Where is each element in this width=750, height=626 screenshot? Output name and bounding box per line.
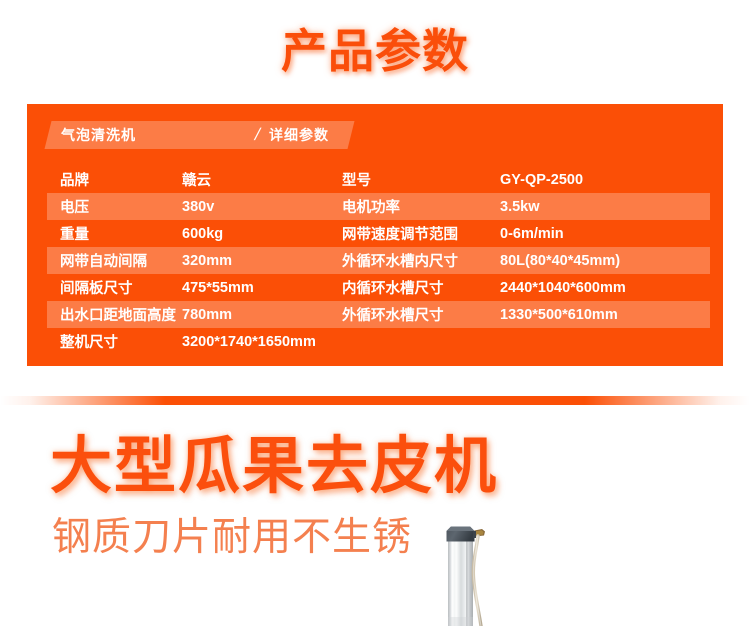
spec-label: 出水口距地面高度 <box>60 304 182 325</box>
section-divider <box>0 396 750 405</box>
spec-value: 780mm <box>182 307 342 323</box>
spec-header-product-name: 气泡清洗机 <box>61 125 136 145</box>
spec-label: 间隔板尺寸 <box>60 277 182 298</box>
spec-value: 赣云 <box>182 169 342 190</box>
spec-value: 475*55mm <box>182 280 342 296</box>
peeling-machine-photo <box>418 517 538 626</box>
promo-title: 大型瓜果去皮机 <box>50 436 498 498</box>
spec-label: 网带自动间隔 <box>60 250 182 271</box>
spec-value: 3200*1740*1650mm <box>182 334 316 350</box>
spec-label: 网带速度调节范围 <box>342 223 500 244</box>
table-row: 品牌 赣云 型号 GY-QP-2500 <box>27 166 723 193</box>
spec-value: 3.5kw <box>500 199 540 215</box>
table-row: 电压 380v 电机功率 3.5kw <box>27 193 723 220</box>
spec-header-separator-icon: / <box>253 125 264 145</box>
spec-label: 整机尺寸 <box>60 331 182 352</box>
table-row: 网带自动间隔 320mm 外循环水槽内尺寸 80L(80*40*45mm) <box>27 247 723 274</box>
spec-table: 品牌 赣云 型号 GY-QP-2500 电压 380v 电机功率 3.5kw 重… <box>27 166 723 355</box>
spec-label: 重量 <box>60 223 182 244</box>
spec-value: GY-QP-2500 <box>500 172 583 188</box>
table-row: 整机尺寸 3200*1740*1650mm <box>27 328 723 355</box>
page-title: 产品参数 <box>0 28 750 74</box>
spec-label: 型号 <box>342 169 500 190</box>
spec-label: 内循环水槽尺寸 <box>342 277 500 298</box>
table-row: 出水口距地面高度 780mm 外循环水槽尺寸 1330*500*610mm <box>27 301 723 328</box>
spec-panel: 气泡清洗机 / 详细参数 品牌 赣云 型号 GY-QP-2500 电压 380v… <box>27 104 723 366</box>
promo-subtitle: 钢质刀片耐用不生锈 <box>52 518 412 557</box>
spec-label: 外循环水槽尺寸 <box>342 304 500 325</box>
spec-value: 320mm <box>182 253 342 269</box>
spec-value: 2440*1040*600mm <box>500 280 626 296</box>
spec-value: 600kg <box>182 226 342 242</box>
spec-label: 电压 <box>60 196 182 217</box>
spec-value: 1330*500*610mm <box>500 307 618 323</box>
spec-label: 品牌 <box>60 169 182 190</box>
spec-value: 80L(80*40*45mm) <box>500 253 620 269</box>
spec-value: 0-6m/min <box>500 226 564 242</box>
spec-header-subtitle: 详细参数 <box>269 125 329 145</box>
spec-value: 380v <box>182 199 342 215</box>
spec-label: 电机功率 <box>342 196 500 217</box>
table-row: 重量 600kg 网带速度调节范围 0-6m/min <box>27 220 723 247</box>
table-row: 间隔板尺寸 475*55mm 内循环水槽尺寸 2440*1040*600mm <box>27 274 723 301</box>
spec-header: 气泡清洗机 / 详细参数 <box>48 121 351 149</box>
spec-label: 外循环水槽内尺寸 <box>342 250 500 271</box>
